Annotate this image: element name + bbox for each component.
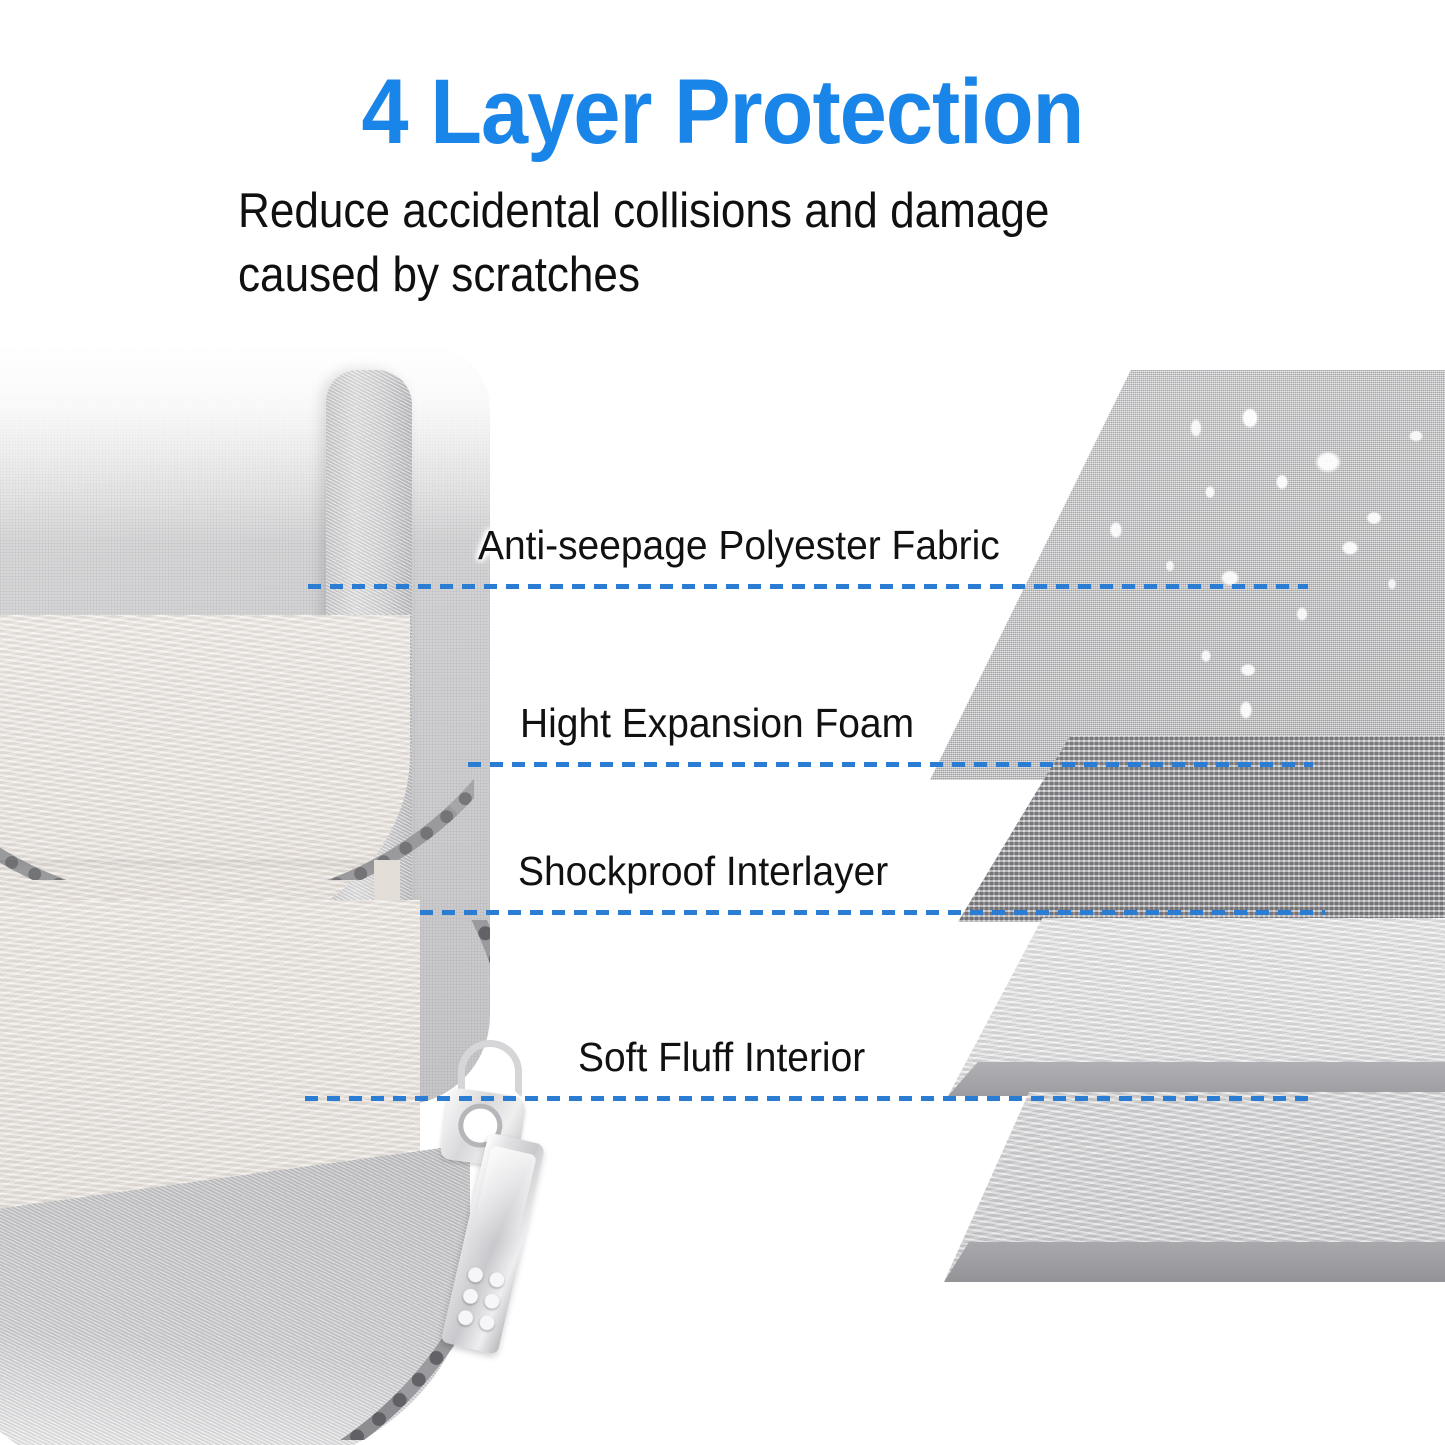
callout-label: Soft Fluff Interior bbox=[578, 1034, 865, 1081]
callout-leader-line bbox=[308, 584, 1308, 589]
callout-label: Hight Expansion Foam bbox=[520, 700, 914, 747]
callout-label: Shockproof Interlayer bbox=[518, 848, 888, 895]
callout-leader-line bbox=[420, 910, 1325, 915]
callout-group: Anti-seepage Polyester Fabric Hight Expa… bbox=[0, 0, 1445, 1445]
callout-label: Anti-seepage Polyester Fabric bbox=[478, 522, 1000, 569]
callout-leader-line bbox=[468, 762, 1313, 767]
infographic-canvas: Anti-seepage Polyester Fabric Hight Expa… bbox=[0, 0, 1445, 1445]
callout-leader-line bbox=[305, 1096, 1315, 1101]
